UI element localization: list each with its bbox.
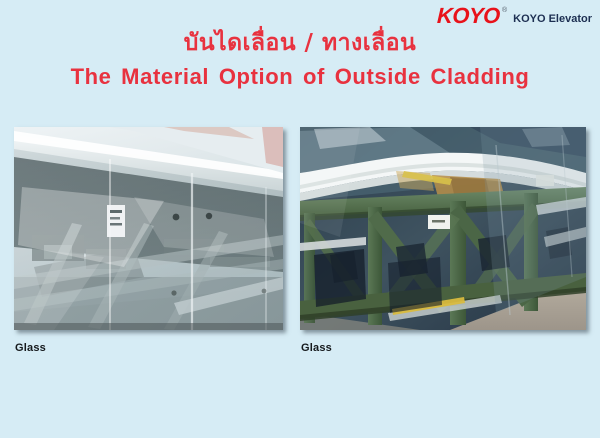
glass-cladding-photo-left: [14, 127, 283, 330]
photo-row: [14, 127, 586, 332]
slide-root: { "brand": { "logo_text": "KOYO", "regis…: [0, 0, 600, 438]
page-title-thai: บันไดเลื่อน / ทางเลื่อน: [0, 28, 600, 58]
photo-right: [300, 127, 586, 330]
brand-logo: KOYO ® KOYO Elevator: [437, 4, 592, 28]
caption-left: Glass: [15, 342, 46, 354]
registered-trademark-icon: ®: [502, 7, 507, 14]
company-name-label: KOYO Elevator: [513, 13, 592, 25]
koyo-logo-mark: KOYO ®: [437, 5, 507, 27]
koyo-wordmark: KOYO: [437, 5, 501, 27]
page-title-english: The Material Option of Outside Cladding: [0, 62, 600, 92]
photo-left: [14, 127, 283, 330]
title-block: บันไดเลื่อน / ทางเลื่อน The Material Opt…: [0, 28, 600, 92]
glass-cladding-photo-right: [300, 127, 586, 330]
caption-right: Glass: [301, 342, 332, 354]
